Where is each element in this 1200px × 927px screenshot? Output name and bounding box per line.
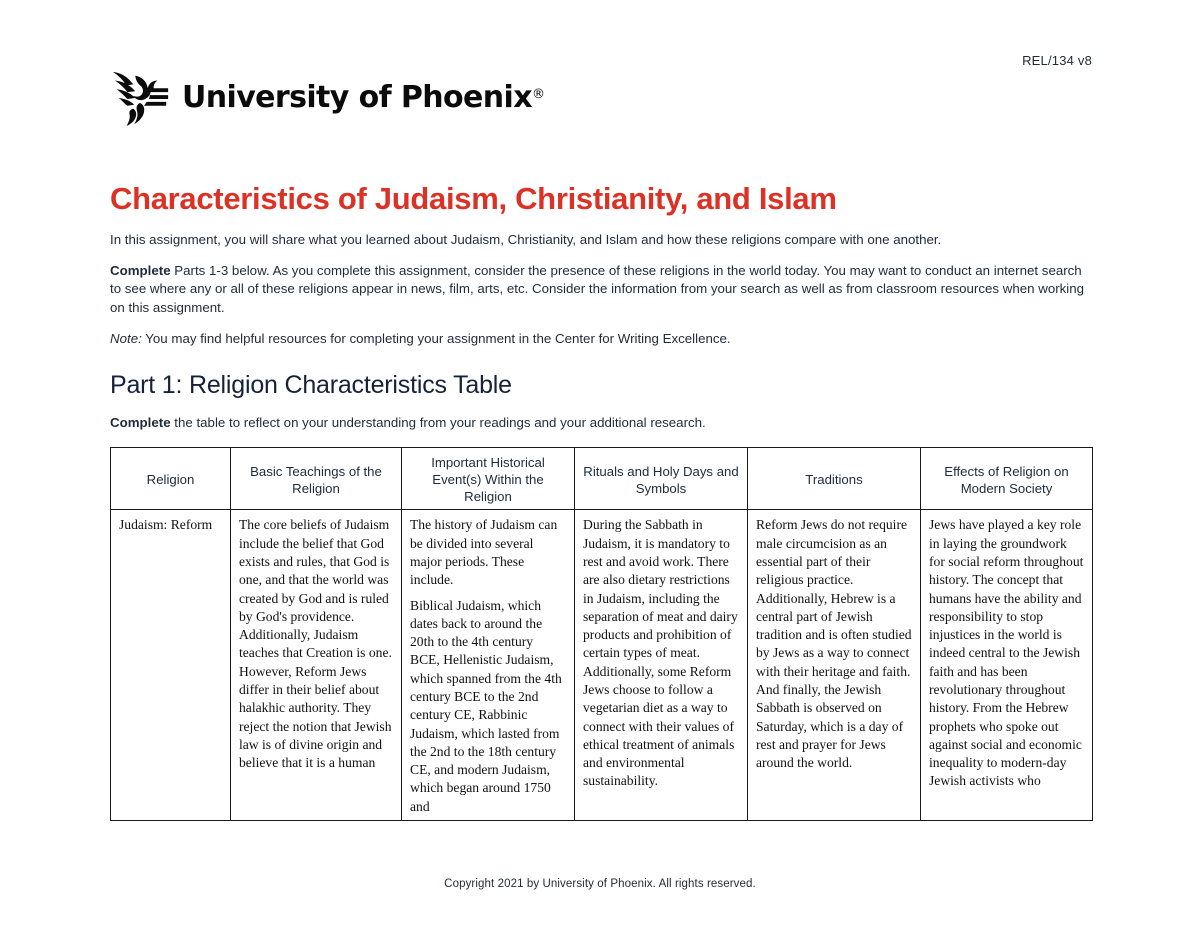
cell-traditions-text: Reform Jews do not require male circumci… [756,516,912,772]
column-header-basic-teachings: Basic Teachings of the Religion [231,447,402,509]
cell-historical-events-text-2: Biblical Judaism, which dates back to ar… [410,597,566,816]
cell-rituals-text: During the Sabbath in Judaism, it is man… [583,516,739,790]
brand-lockup: University of Phoenix® [110,66,544,128]
cell-modern-effects[interactable]: Jews have played a key role in laying th… [921,510,1093,821]
intro-complete-label: Complete [110,263,171,278]
cell-religion[interactable]: Judaism: Reform [111,510,231,821]
note-label: Note: [110,331,142,346]
part-1-complete-label: Complete [110,415,171,430]
part-1-heading: Part 1: Religion Characteristics Table [110,371,1092,400]
column-header-rituals: Rituals and Holy Days and Symbols [575,447,748,509]
cell-traditions[interactable]: Reform Jews do not require male circumci… [748,510,921,821]
cell-rituals[interactable]: During the Sabbath in Judaism, it is man… [575,510,748,821]
note-text: You may find helpful resources for compl… [142,331,731,346]
page-title: Characteristics of Judaism, Christianity… [110,182,1092,217]
course-code: REL/134 v8 [1022,53,1092,68]
cell-historical-events[interactable]: The history of Judaism can be divided in… [402,510,575,821]
brand-name-text: University of Phoenix [182,80,532,115]
document-content: Characteristics of Judaism, Christianity… [110,182,1092,821]
part-1-instruction: Complete the table to reflect on your un… [110,414,1092,433]
document-page: REL/134 v8 University of Phoenix® Charac… [0,0,1200,927]
brand-name: University of Phoenix® [182,80,544,115]
intro-paragraph-2-text: Parts 1-3 below. As you complete this as… [110,263,1084,316]
part-1-instruction-text: the table to reflect on your understandi… [171,415,706,430]
religion-characteristics-table: Religion Basic Teachings of the Religion… [110,447,1093,821]
cell-basic-teachings[interactable]: The core beliefs of Judaism include the … [231,510,402,821]
table-header-row: Religion Basic Teachings of the Religion… [111,447,1093,509]
cell-modern-effects-text: Jews have played a key role in laying th… [929,516,1084,790]
intro-note: Note: You may find helpful resources for… [110,330,1092,349]
intro-paragraph-1: In this assignment, you will share what … [110,231,1092,250]
column-header-modern-effects: Effects of Religion on Modern Society [921,447,1093,509]
column-header-religion: Religion [111,447,231,509]
phoenix-bird-logo-icon [110,66,172,128]
column-header-historical-events: Important Historical Event(s) Within the… [402,447,575,509]
column-header-traditions: Traditions [748,447,921,509]
footer-copyright: Copyright 2021 by University of Phoenix.… [0,878,1200,890]
table-row: Judaism: Reform The core beliefs of Juda… [111,510,1093,821]
intro-paragraph-2: Complete Parts 1-3 below. As you complet… [110,262,1092,319]
cell-historical-events-text-1: The history of Judaism can be divided in… [410,516,566,589]
registered-mark: ® [532,87,544,102]
cell-basic-teachings-text: The core beliefs of Judaism include the … [239,516,393,772]
